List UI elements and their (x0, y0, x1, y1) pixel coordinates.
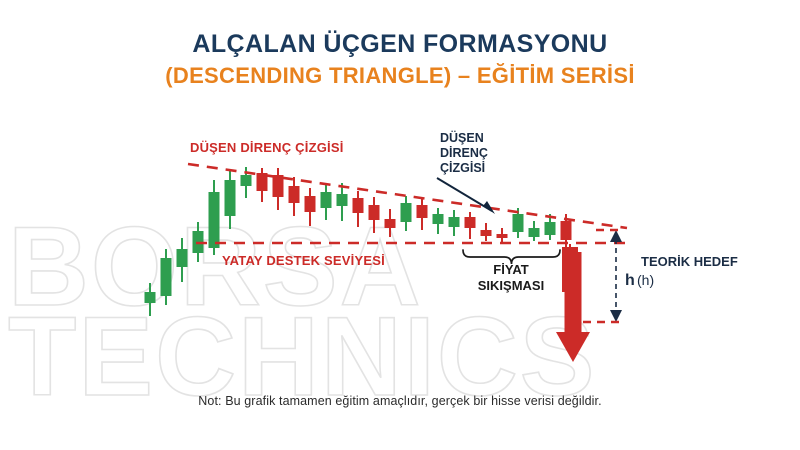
footnote: Not: Bu grafik tamamen eğitim amaçlıdır,… (0, 394, 800, 408)
candle-body (401, 203, 412, 222)
target-height-symbol: h (625, 272, 635, 289)
candle-body (385, 219, 396, 228)
candle-body (273, 175, 284, 197)
candle-body (545, 222, 556, 235)
header: ALÇALAN ÜÇGEN FORMASYONU (DESCENDING TRI… (0, 0, 800, 89)
candle-body (513, 214, 524, 232)
candle-body (337, 194, 348, 206)
support-label: YATAY DESTEK SEVİYESİ (222, 253, 385, 268)
candle-body (433, 214, 444, 224)
candle-body (177, 249, 188, 267)
candle-body (161, 258, 172, 296)
resistance-callout-line-2: DİRENÇ (440, 145, 488, 160)
resistance-callout-arrow (437, 178, 495, 214)
measured-move-head-top (610, 230, 622, 242)
squeeze-label-line-2: SIKIŞMASI (478, 278, 544, 293)
infographic-canvas: BORSA TECHNICS ALÇALAN ÜÇGEN FORMASYONU … (0, 0, 800, 450)
candle-body (321, 192, 332, 208)
resistance-label: DÜŞEN DİRENÇ ÇİZGİSİ (190, 140, 344, 155)
breakdown-arrow-shaft (565, 252, 582, 332)
candle-body (481, 230, 492, 236)
candle-body (289, 186, 300, 203)
breakdown-arrow-head (556, 332, 590, 362)
candle-body (529, 228, 540, 237)
candle-body (353, 198, 364, 213)
theoretical-target-label: TEORİK HEDEF (641, 254, 738, 269)
candle-body (369, 205, 380, 220)
candle-body (241, 175, 252, 186)
resistance-callout-line-1: DÜŞEN (440, 130, 484, 145)
page-title: ALÇALAN ÜÇGEN FORMASYONU (0, 0, 800, 58)
candle-body (225, 180, 236, 216)
candle-body (145, 292, 156, 303)
breakdown-arrow (556, 252, 590, 362)
candle-body (305, 196, 316, 212)
candle-body (465, 217, 476, 228)
measured-move-head-bottom (610, 310, 622, 322)
candle-body (209, 192, 220, 248)
squeeze-label-line-1: FİYAT (493, 262, 528, 277)
candle-body (417, 205, 428, 218)
page-subtitle: (DESCENDING TRIANGLE) – EĞİTİM SERİSİ (0, 58, 800, 89)
target-height-paren: (h) (637, 272, 654, 288)
candle-body (561, 221, 572, 240)
candle-body (497, 234, 508, 238)
resistance-callout-line-3: ÇİZGİSİ (440, 160, 485, 175)
candle-body (449, 217, 460, 227)
